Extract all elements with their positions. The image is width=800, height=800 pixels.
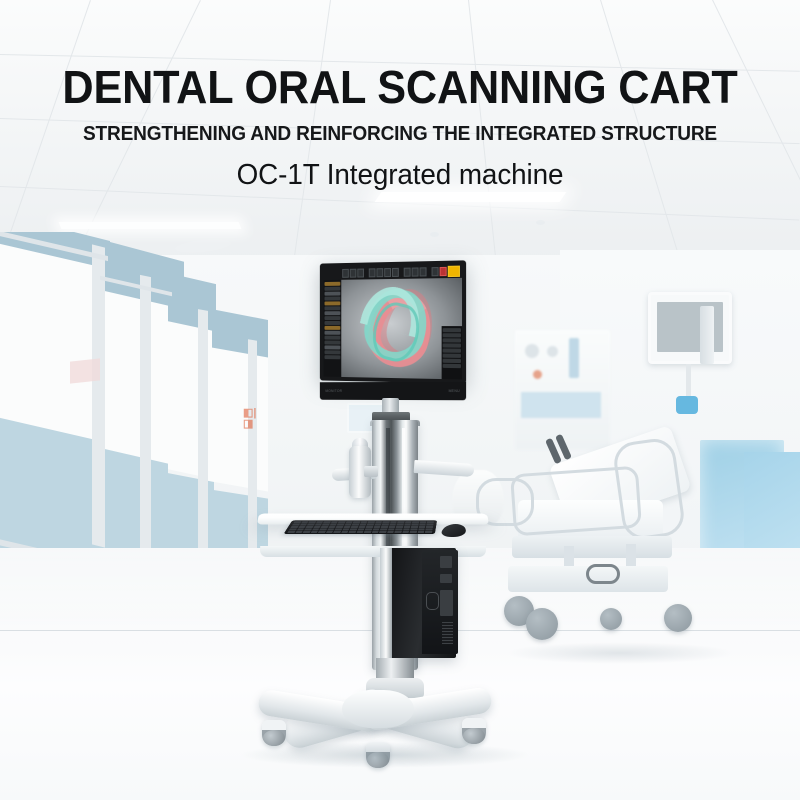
page-title: DENTAL ORAL SCANNING CART: [24, 62, 776, 112]
monitor-osd-label: MENU: [449, 389, 460, 393]
page-subtitle: STRENGTHENING AND REINFORCING THE INTEGR…: [28, 122, 772, 146]
pc-tower-handle: [426, 592, 439, 610]
panel-row[interactable]: [443, 338, 461, 342]
door-frame: [92, 244, 105, 547]
toolbar-icon-measure[interactable]: [392, 268, 399, 277]
panel-section-header[interactable]: [324, 301, 340, 305]
toolbar-icon-upper-jaw[interactable]: [404, 268, 411, 277]
panel-row[interactable]: [443, 328, 461, 332]
door-frame: [198, 309, 208, 573]
product-model-line: OC-1T Integrated machine: [16, 158, 784, 192]
bed-floor-shadow: [505, 642, 735, 664]
panel-row[interactable]: [324, 350, 340, 354]
monitor-brand-label: MONITOR: [325, 389, 342, 393]
toolbar-icon-save[interactable]: [357, 269, 364, 278]
toolbar-icon-settings[interactable]: [432, 267, 439, 276]
four-star-caster-base: [256, 686, 494, 748]
wall-mounted-monitor: [648, 292, 732, 364]
base-centre-boss: [342, 690, 414, 728]
panel-row[interactable]: [324, 287, 340, 291]
panel-row[interactable]: [443, 354, 461, 358]
toolbar-icon-bite[interactable]: [420, 267, 427, 276]
bed-caster: [600, 608, 622, 630]
software-left-panel[interactable]: [324, 280, 342, 377]
pc-power-button[interactable]: [440, 556, 452, 568]
panel-row[interactable]: [443, 359, 461, 363]
toolbar-icon-record[interactable]: [440, 267, 447, 276]
dental-oral-scanning-cart: MONITOR MENU: [236, 262, 536, 782]
software-right-panel[interactable]: [442, 326, 462, 379]
toolbar-icon-pan[interactable]: [376, 268, 383, 277]
pc-optical-drive[interactable]: [440, 590, 453, 616]
ceiling-light-fixture: [375, 192, 567, 202]
wall-bracket: [700, 306, 714, 364]
monitor-handle: [676, 396, 698, 414]
scan-software-screen[interactable]: [324, 265, 462, 380]
ceiling-sprinkler: [536, 220, 545, 225]
panel-row[interactable]: [324, 355, 340, 359]
toolbar-icon-new[interactable]: [342, 269, 349, 278]
pc-vent: [442, 622, 453, 644]
pc-mount-bracket: [380, 548, 392, 658]
lower-jaw-3d-model: [358, 286, 448, 374]
headline-block: DENTAL ORAL SCANNING CART STRENGTHENING …: [0, 0, 800, 192]
panel-row[interactable]: [324, 296, 340, 300]
bed-frame: [512, 536, 672, 558]
panel-row[interactable]: [324, 345, 340, 349]
panel-row[interactable]: [324, 336, 340, 340]
panel-row[interactable]: [324, 311, 340, 315]
panel-section-header[interactable]: [324, 326, 340, 330]
ceiling-light-fixture: [59, 222, 242, 229]
panel-row[interactable]: [443, 333, 461, 337]
panel-row[interactable]: [443, 348, 461, 352]
cradle-mount-arm: [364, 466, 378, 477]
toolbar-icon-zoom[interactable]: [384, 268, 391, 277]
mouse[interactable]: [440, 524, 467, 537]
panel-row[interactable]: [443, 343, 461, 347]
toolbar-icon-scan-active[interactable]: [448, 266, 460, 277]
panel-section-header[interactable]: [324, 282, 340, 286]
ceiling-sprinkler: [430, 232, 439, 237]
toolbar-icon-open[interactable]: [350, 269, 357, 278]
panel-row[interactable]: [324, 321, 340, 325]
right-tray-wing: [414, 460, 475, 477]
toolbar-icon-lower-jaw[interactable]: [412, 267, 419, 276]
keyboard[interactable]: [284, 520, 438, 534]
banner-canvas: ◧|◨: [0, 0, 800, 800]
toolbar-icon-rotate[interactable]: [369, 268, 376, 277]
panel-row[interactable]: [324, 341, 340, 345]
panel-row[interactable]: [443, 364, 461, 368]
pc-usb-port[interactable]: [440, 574, 452, 583]
caster-wheel: [462, 718, 486, 744]
panel-row[interactable]: [324, 306, 340, 310]
panel-row[interactable]: [324, 316, 340, 320]
keyboard-keys[interactable]: [287, 521, 434, 533]
wall-notice: [70, 358, 100, 383]
cart-floor-shadow: [240, 742, 530, 768]
cart-monitor[interactable]: [320, 260, 466, 383]
bed-caster: [664, 604, 692, 632]
panel-row[interactable]: [324, 331, 340, 335]
door-frame: [140, 275, 151, 557]
panel-row[interactable]: [324, 292, 340, 296]
